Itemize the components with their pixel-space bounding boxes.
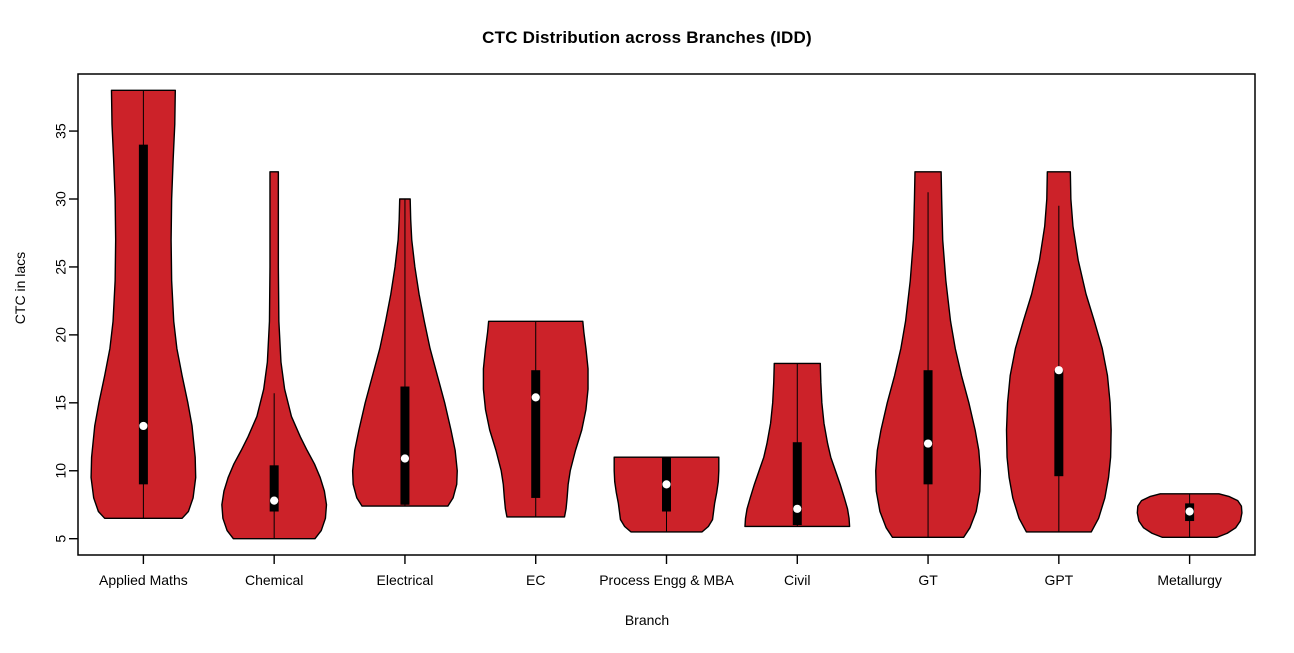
iqr-box (1054, 370, 1063, 476)
y-tick-label: 35 (53, 123, 69, 139)
plot-area: 5101520253035Applied MathsChemicalElectr… (0, 0, 1294, 653)
x-tick-label: Applied Maths (99, 572, 188, 588)
violin-applied-maths (91, 90, 196, 518)
iqr-box (531, 370, 540, 498)
x-tick-label: Chemical (245, 572, 303, 588)
x-tick-label: Process Engg & MBA (599, 572, 734, 588)
y-tick-label: 20 (53, 327, 69, 343)
iqr-box (400, 387, 409, 505)
violin-electrical (353, 199, 458, 506)
y-tick-label: 5 (53, 535, 69, 543)
iqr-box (139, 145, 148, 485)
violin-process-engg-mba (614, 457, 719, 532)
y-tick-label: 10 (53, 463, 69, 479)
median-point (793, 505, 801, 513)
median-point (1186, 507, 1194, 515)
x-tick-label: Electrical (377, 572, 434, 588)
x-tick-label: GPT (1044, 572, 1073, 588)
x-tick-label: Civil (784, 572, 810, 588)
median-point (1055, 366, 1063, 374)
violin-gt (876, 172, 981, 538)
violin-series-group (91, 90, 1242, 538)
x-tick-label: GT (918, 572, 938, 588)
violin-civil (745, 363, 850, 526)
violin-metallurgy (1137, 494, 1242, 537)
median-point (662, 480, 670, 488)
iqr-box (924, 370, 933, 484)
y-tick-label: 30 (53, 191, 69, 207)
median-point (401, 454, 409, 462)
median-point (924, 439, 932, 447)
violin-gpt (1007, 172, 1112, 532)
x-tick-label: EC (526, 572, 545, 588)
median-point (532, 393, 540, 401)
violin-chart: CTC Distribution across Branches (IDD) C… (0, 0, 1294, 653)
x-tick-label: Metallurgy (1157, 572, 1222, 588)
violin-ec (483, 321, 588, 517)
violin-chemical (222, 172, 327, 539)
median-point (270, 497, 278, 505)
median-point (139, 422, 147, 430)
y-tick-label: 25 (53, 259, 69, 275)
y-tick-label: 15 (53, 395, 69, 411)
